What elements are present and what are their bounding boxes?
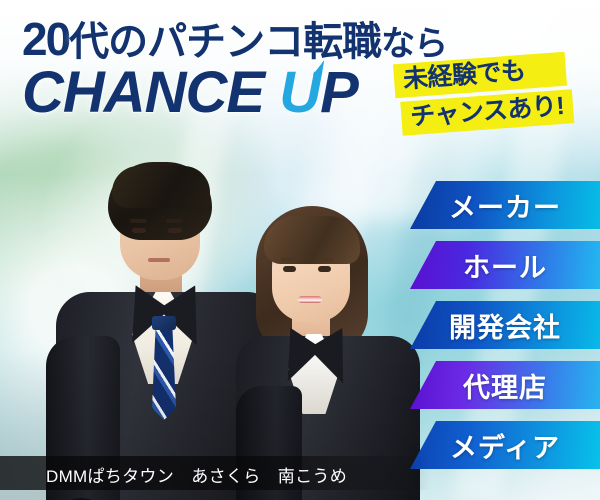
credit-text: DMMぱちタウン あさくら 南こうめ <box>46 462 347 487</box>
category-button-developer[interactable]: 開発会社 <box>410 301 600 349</box>
category-list: メーカー ホール 開発会社 代理店 メディア <box>0 0 600 500</box>
category-button-maker[interactable]: メーカー <box>410 181 600 229</box>
recruitment-banner: 20代のパチンコ転職なら CHANCE UP 未経験でも チャンスあり! メーカ… <box>0 0 600 500</box>
category-button-hall[interactable]: ホール <box>410 241 600 289</box>
category-button-media[interactable]: メディア <box>410 421 600 469</box>
category-button-agency[interactable]: 代理店 <box>410 361 600 409</box>
